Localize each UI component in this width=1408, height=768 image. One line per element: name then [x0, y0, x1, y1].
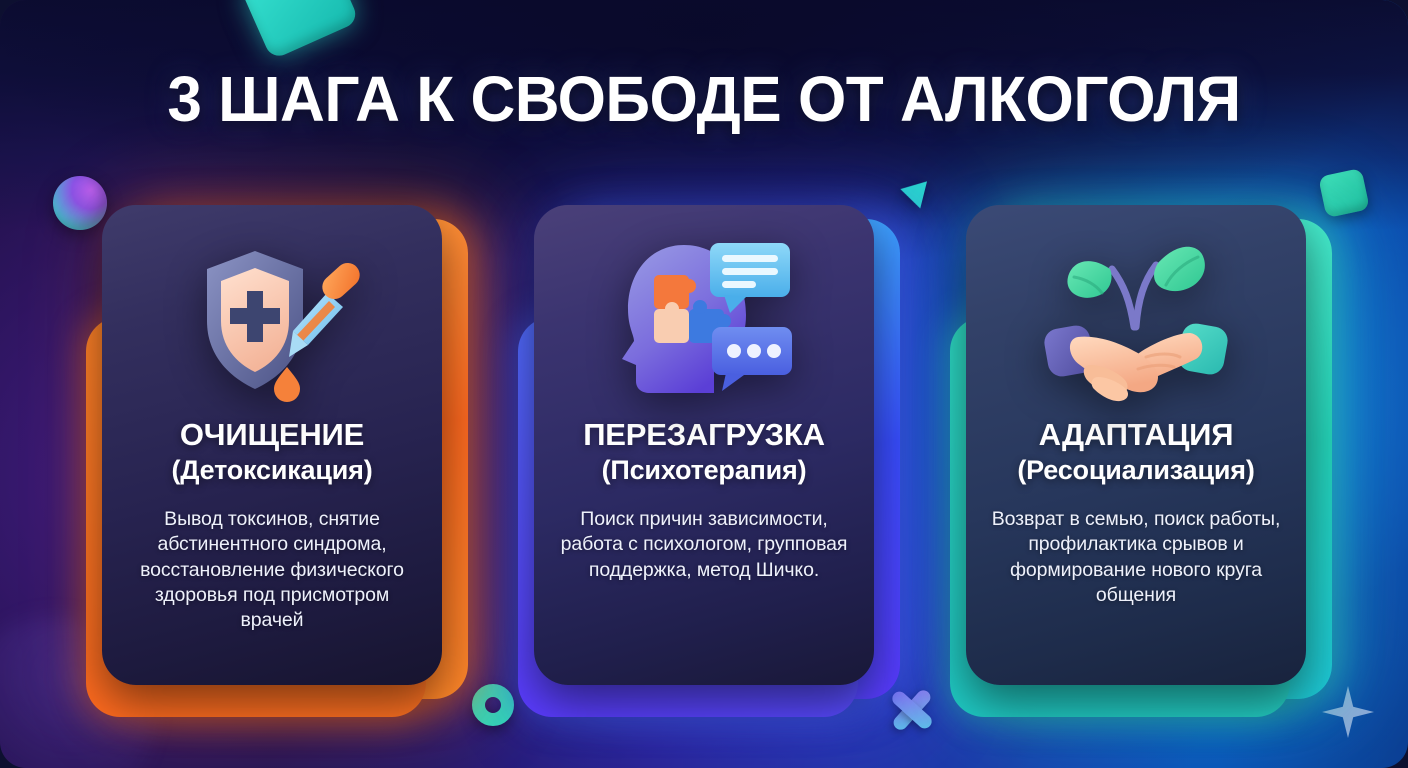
teal-ring-icon — [472, 684, 514, 726]
page-title: 3 ШАГА К СВОБОДЕ ОТ АЛКОГОЛЯ — [21, 62, 1387, 136]
shield-cross-dropper-icon — [118, 223, 426, 419]
card-surface: ОЧИЩЕНИЕ (Детоксикация) Вывод токсинов, … — [102, 205, 442, 685]
teal-triangle-icon — [897, 176, 927, 209]
teal-rounded-square-top-icon — [240, 0, 359, 60]
card-body: Вывод токсинов, снятие абстинентного син… — [118, 507, 426, 634]
head-puzzle-speech-bubbles-icon — [550, 223, 858, 419]
step-card-cleansing[interactable]: ОЧИЩЕНИЕ (Детоксикация) Вывод токсинов, … — [102, 205, 442, 685]
card-title: АДАПТАЦИЯ — [1039, 419, 1234, 452]
card-subtitle: (Психотерапия) — [602, 455, 807, 485]
infographic-canvas: 3 ШАГА К СВОБОДЕ ОТ АЛКОГОЛЯ — [0, 0, 1408, 768]
card-title: ОЧИЩЕНИЕ — [180, 419, 364, 452]
card-body: Возврат в семью, поиск работы, профилакт… — [982, 507, 1290, 608]
card-subtitle: (Детоксикация) — [171, 455, 372, 485]
card-surface: ПЕРЕЗАГРУЗКА (Психотерапия) Поиск причин… — [534, 205, 874, 685]
card-subtitle: (Ресоциализация) — [1017, 455, 1254, 485]
card-title: ПЕРЕЗАГРУЗКА — [583, 419, 825, 452]
step-card-reload[interactable]: ПЕРЕЗАГРУЗКА (Психотерапия) Поиск причин… — [534, 205, 874, 685]
handshake-sprout-icon — [982, 223, 1290, 419]
card-body: Поиск причин зависимости, работа с психо… — [550, 507, 858, 583]
four-point-star-icon — [1322, 686, 1374, 738]
step-card-adaptation[interactable]: АДАПТАЦИЯ (Ресоциализация) Возврат в сем… — [966, 205, 1306, 685]
card-surface: АДАПТАЦИЯ (Ресоциализация) Возврат в сем… — [966, 205, 1306, 685]
steps-card-row: ОЧИЩЕНИЕ (Детоксикация) Вывод токсинов, … — [0, 205, 1408, 685]
